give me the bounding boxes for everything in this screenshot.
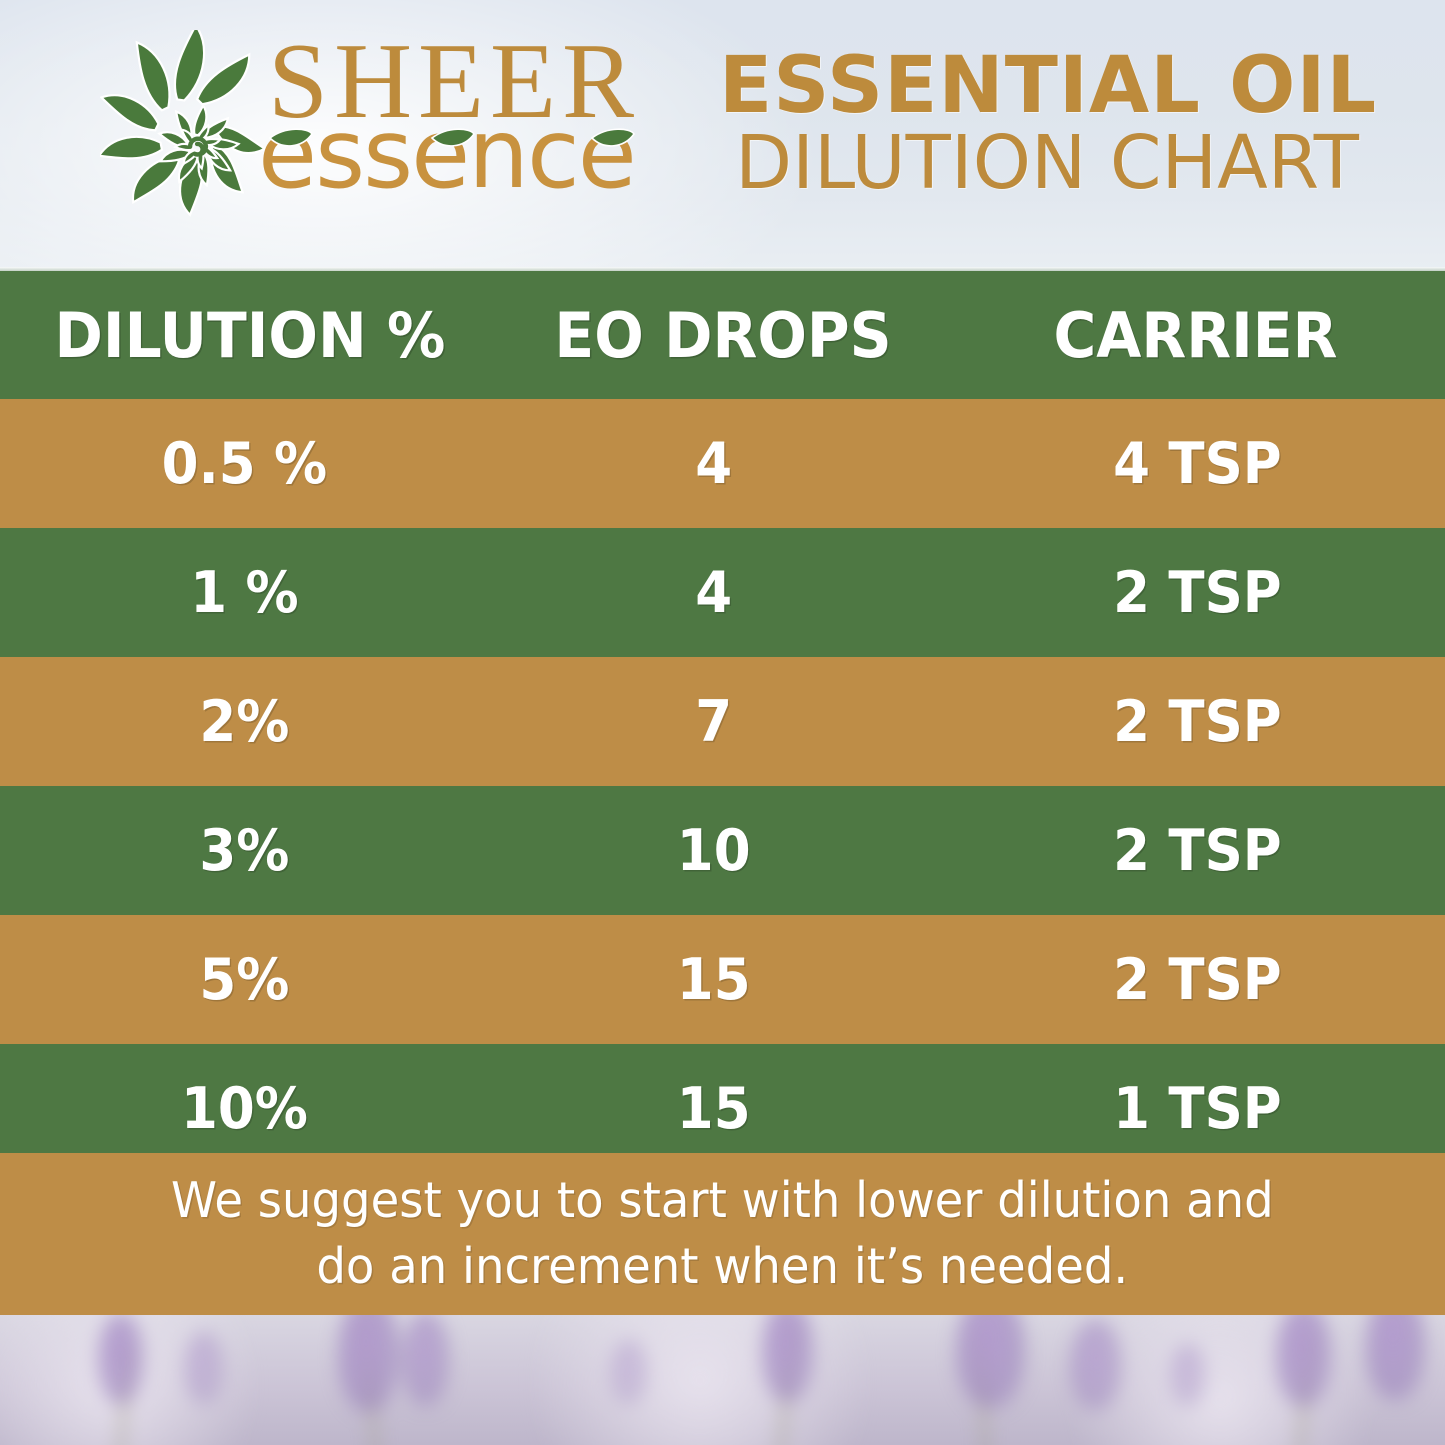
cell-dilution: 10% bbox=[12, 1076, 477, 1142]
footer-note: We suggest you to start with lower dilut… bbox=[0, 1153, 1445, 1315]
cell-carrier: 2 TSP bbox=[965, 689, 1429, 755]
cell-dilution: 0.5 % bbox=[12, 431, 477, 497]
sunflower-leaf-mandala-icon bbox=[100, 30, 275, 230]
column-header-eo-drops: EO DROPS bbox=[513, 299, 932, 372]
table-header-row: DILUTION % EO DROPS CARRIER bbox=[0, 271, 1445, 399]
table-row: 3% 10 2 TSP bbox=[0, 786, 1445, 915]
cell-eo-drops: 4 bbox=[506, 431, 921, 497]
lavender-field-photo bbox=[0, 1315, 1445, 1445]
cell-carrier: 2 TSP bbox=[965, 818, 1429, 884]
cell-dilution: 3% bbox=[12, 818, 477, 884]
dilution-chart-page: SHEER essence ESSENTIAL OIL DILUTION CHA… bbox=[0, 0, 1445, 1445]
brand-wordmark: SHEER essence bbox=[268, 28, 698, 243]
title-essential-oil: ESSENTIAL OIL bbox=[719, 48, 1359, 124]
footer-note-line-2: do an increment when it’s needed. bbox=[317, 1234, 1129, 1300]
cell-eo-drops: 15 bbox=[506, 947, 921, 1013]
cell-dilution: 1 % bbox=[12, 560, 477, 626]
dilution-table: DILUTION % EO DROPS CARRIER 0.5 % 4 4 TS… bbox=[0, 271, 1445, 1173]
footer-note-line-1: We suggest you to start with lower dilut… bbox=[171, 1168, 1274, 1234]
cell-carrier: 2 TSP bbox=[965, 947, 1429, 1013]
cell-dilution: 2% bbox=[12, 689, 477, 755]
brand-logo: SHEER essence bbox=[100, 20, 690, 250]
table-row: 1 % 4 2 TSP bbox=[0, 528, 1445, 657]
cell-carrier: 4 TSP bbox=[965, 431, 1429, 497]
table-row: 2% 7 2 TSP bbox=[0, 657, 1445, 786]
cell-carrier: 1 TSP bbox=[965, 1076, 1429, 1142]
essence-leaf-accents-icon bbox=[256, 104, 686, 214]
column-header-dilution: DILUTION % bbox=[15, 299, 485, 372]
table-row: 0.5 % 4 4 TSP bbox=[0, 399, 1445, 528]
cell-eo-drops: 7 bbox=[506, 689, 921, 755]
table-row: 5% 15 2 TSP bbox=[0, 915, 1445, 1044]
lavender-blur-layer bbox=[0, 1315, 1445, 1445]
title-dilution-chart: DILUTION CHART bbox=[719, 126, 1359, 200]
cell-eo-drops: 15 bbox=[506, 1076, 921, 1142]
cell-carrier: 2 TSP bbox=[965, 560, 1429, 626]
cell-eo-drops: 10 bbox=[506, 818, 921, 884]
page-title: ESSENTIAL OIL DILUTION CHART bbox=[719, 48, 1359, 200]
cell-dilution: 5% bbox=[12, 947, 477, 1013]
column-header-carrier: CARRIER bbox=[961, 299, 1430, 372]
cell-eo-drops: 4 bbox=[506, 560, 921, 626]
header-banner: SHEER essence ESSENTIAL OIL DILUTION CHA… bbox=[0, 0, 1445, 271]
